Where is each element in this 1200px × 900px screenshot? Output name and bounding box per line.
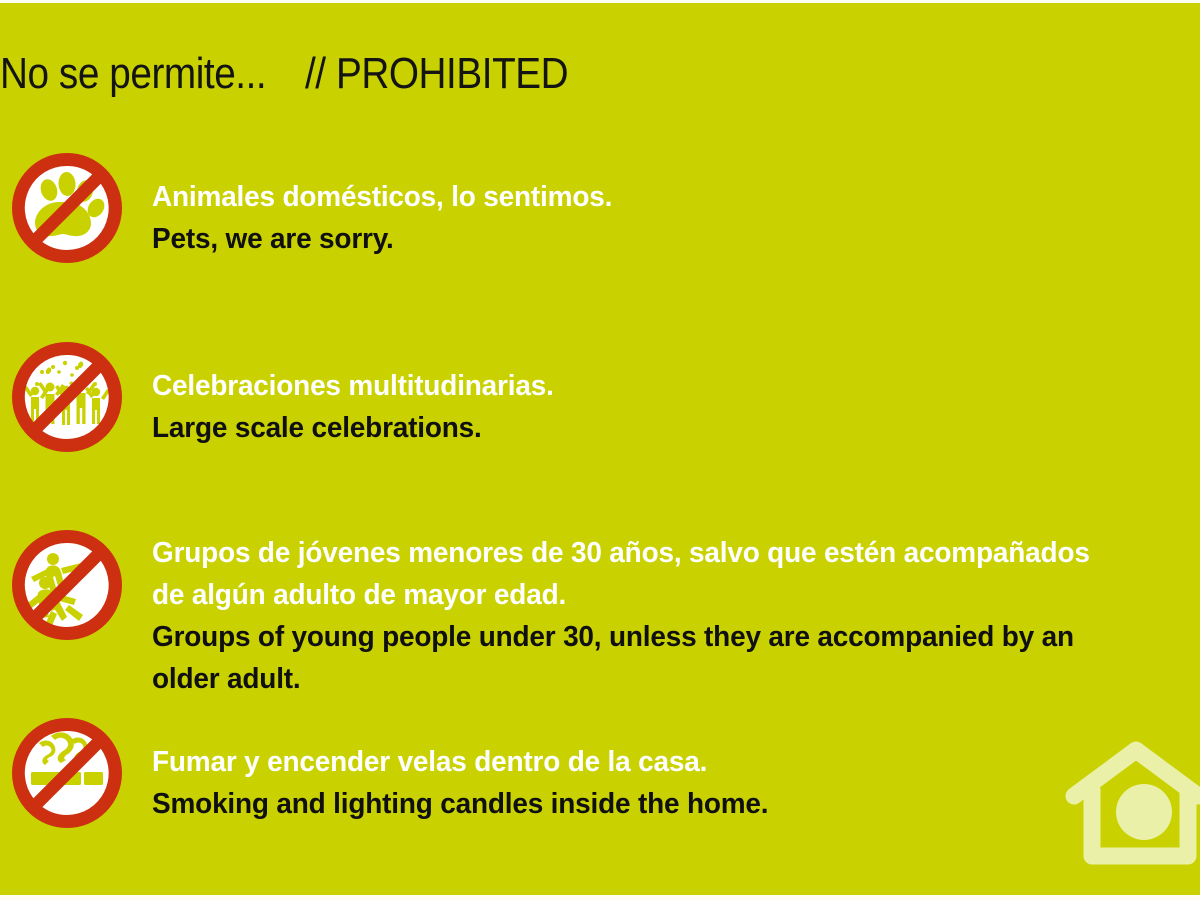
prohibited-rules-slide: No se permite...// PROHIBITED Animales d… (0, 0, 1200, 900)
no-smoking-candles-icon (9, 715, 125, 831)
top-edge-strip (0, 0, 1200, 3)
page-title-english: PROHIBITED (336, 49, 568, 98)
rule-line-spanish: Celebraciones multitudinarias. (152, 365, 1200, 407)
rule-line-spanish: de algún adulto de mayor edad. (152, 574, 1200, 616)
page-title-separator: // (305, 49, 326, 98)
rule-line-spanish: Animales domésticos, lo sentimos. (152, 176, 1200, 218)
rule-line-english: Pets, we are sorry. (152, 218, 1200, 260)
rule-text-young-groups: Grupos de jóvenes menores de 30 años, sa… (152, 532, 1200, 700)
rule-text-pets: Animales domésticos, lo sentimos. Pets, … (152, 176, 1200, 260)
rule-line-english: older adult. (152, 658, 1200, 700)
rule-line-spanish: Grupos de jóvenes menores de 30 años, sa… (152, 532, 1200, 574)
no-pets-icon (9, 150, 125, 266)
no-young-groups-icon (9, 527, 125, 643)
rule-line-english: Smoking and lighting candles inside the … (152, 783, 1200, 825)
rule-line-english: Groups of young people under 30, unless … (152, 616, 1200, 658)
bottom-edge-strip (0, 895, 1200, 900)
rule-line-english: Large scale celebrations. (152, 407, 1200, 449)
page-title: No se permite...// PROHIBITED (0, 50, 968, 98)
rule-line-spanish: Fumar y encender velas dentro de la casa… (152, 741, 1200, 783)
no-large-gatherings-icon (9, 339, 125, 455)
rule-text-celebrations: Celebraciones multitudinarias. Large sca… (152, 365, 1200, 449)
rule-text-smoking: Fumar y encender velas dentro de la casa… (152, 741, 1200, 825)
page-title-spanish: No se permite... (0, 49, 266, 98)
